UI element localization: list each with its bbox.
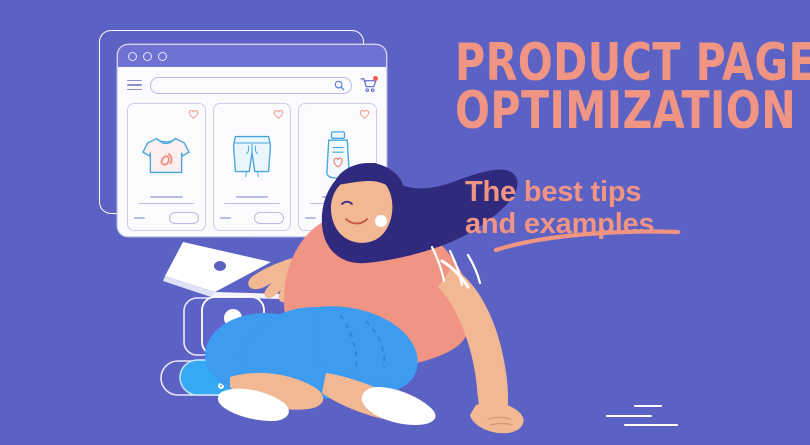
search-icon [334,80,345,91]
window-dot-close-icon[interactable] [128,52,137,61]
hamburger-menu-icon[interactable] [127,80,142,91]
earring [375,215,387,227]
shoe-right [362,387,436,425]
cart-badge [373,76,378,81]
window-dot-maximize-icon[interactable] [158,52,167,61]
cart-button[interactable] [360,77,377,93]
title-line-2: OPTIMIZATION [455,88,745,136]
underline-swoosh [492,228,682,254]
heart-icon[interactable] [359,109,370,119]
heart-icon[interactable] [273,109,284,119]
search-input[interactable] [150,77,352,94]
window-dot-minimize-icon[interactable] [143,52,152,61]
heart-icon[interactable] [188,109,199,119]
browser-titlebar [118,45,386,67]
headline-block: PRODUCT PAGE OPTIMIZATION [455,40,785,136]
subtitle-line-1: The best tips [465,176,785,208]
banner-canvas: PRODUCT PAGE OPTIMIZATION The best tips … [0,0,810,445]
shop-navbar [127,75,377,95]
floor-accent-lines [595,400,685,430]
